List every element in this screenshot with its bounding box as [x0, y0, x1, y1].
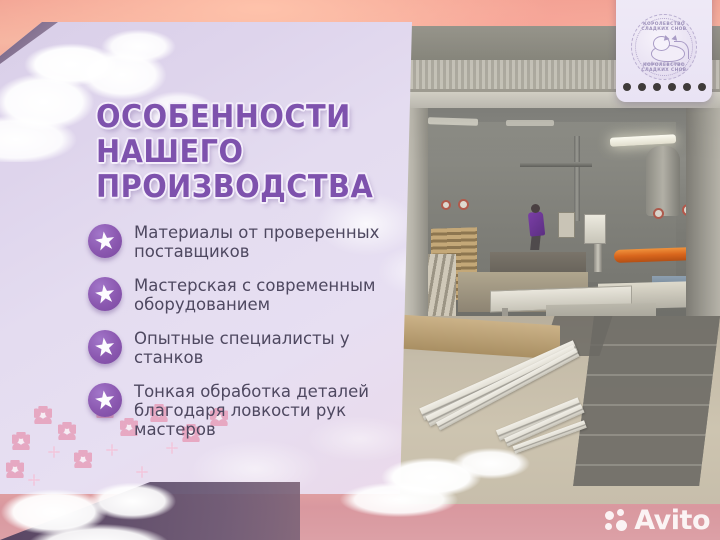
photo-wall-sign-1	[441, 200, 451, 210]
list-item: Материалы от проверенных поставщиков	[88, 222, 388, 261]
star-icon	[94, 336, 117, 359]
sparkle-icon	[48, 446, 60, 458]
star-badge	[88, 330, 122, 364]
star-icon	[94, 283, 117, 306]
photo-door-frame-right	[686, 106, 720, 321]
list-item-label: Мастерская с современным оборудованием	[134, 275, 388, 314]
star-badge	[88, 224, 122, 258]
list-item: Мастерская с современным оборудованием	[88, 275, 388, 314]
photo-wall-sign-4	[653, 208, 664, 219]
photo-control-panel	[558, 212, 575, 238]
star-icon	[94, 230, 117, 253]
photo-tank-1	[646, 146, 680, 216]
photo-horizontal-pipe	[520, 162, 592, 167]
info-card: ОСОБЕННОСТИ НАШЕГО ПРОИЗВОДСТВА Материал…	[0, 22, 420, 494]
list-item-label: Тонкая обработка деталей благодаря ловко…	[134, 381, 388, 439]
badge-dot	[638, 83, 646, 91]
photo-ceiling-light-3	[506, 120, 554, 126]
cloud-bottom-center	[330, 436, 560, 522]
page-title-line-3: ПРОИЗВОДСТВА	[96, 170, 375, 205]
photo-worker-body	[528, 211, 545, 236]
photo-worker-head	[531, 204, 540, 213]
list-item: Опытные специалисты у станков	[88, 328, 388, 367]
star-icon	[94, 389, 117, 412]
badge-dot-row	[616, 83, 712, 91]
list-item: Тонкая обработка деталей благодаря ловко…	[88, 381, 388, 439]
page-title: ОСОБЕННОСТИ НАШЕГО ПРОИЗВОДСТВА	[96, 100, 375, 205]
page-title-line-2: НАШЕГО	[96, 135, 375, 170]
flower-icon	[12, 432, 30, 450]
list-item-label: Опытные специалисты у станков	[134, 328, 388, 367]
avito-logo-icon	[605, 509, 629, 533]
avito-watermark: Avito	[605, 508, 710, 534]
seal-arc-bottom-text: КОРОЛЕВСТВО СЛАДКИХ СНОВ	[632, 63, 696, 73]
badge-dot	[698, 83, 706, 91]
badge-dot	[683, 83, 691, 91]
avito-brand-label: Avito	[634, 508, 710, 534]
cloud-bottom-left	[0, 476, 250, 540]
poster-canvas: ОСОБЕННОСТИ НАШЕГО ПРОИЗВОДСТВА Материал…	[0, 0, 720, 540]
cat-ear-right	[671, 34, 678, 40]
sleeping-cat-icon	[645, 35, 687, 63]
brand-seal: КОРОЛЕВСТВО СЛАДКИХ СНОВ мебель на заказ…	[631, 14, 697, 80]
star-badge	[88, 277, 122, 311]
photo-vertical-pipe	[574, 136, 580, 221]
cloud-top-left	[0, 22, 220, 106]
flower-icon	[34, 406, 52, 424]
star-badge	[88, 383, 122, 417]
photo-machine-plate	[584, 214, 606, 244]
seal-arc-top-text: КОРОЛЕВСТВО СЛАДКИХ СНОВ	[632, 22, 696, 32]
flower-icon	[58, 422, 76, 440]
badge-dot	[623, 83, 631, 91]
brand-badge: КОРОЛЕВСТВО СЛАДКИХ СНОВ мебель на заказ…	[616, 0, 712, 102]
cat-head	[653, 36, 670, 51]
cat-ear-left	[662, 34, 669, 40]
feature-list: Материалы от проверенных поставщиков Мас…	[88, 222, 388, 453]
badge-dot	[653, 83, 661, 91]
list-item-label: Материалы от проверенных поставщиков	[134, 222, 388, 261]
badge-dot	[668, 83, 676, 91]
photo-wall-sign-2	[458, 199, 469, 210]
